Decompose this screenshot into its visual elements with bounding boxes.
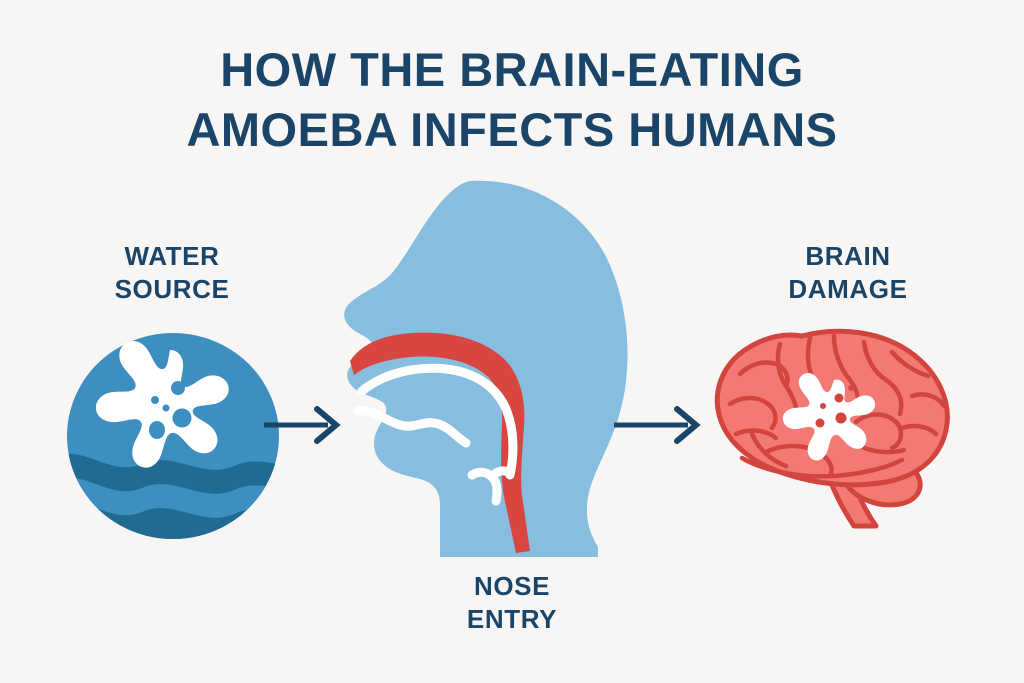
page-title-line-2: AMOEBA INFECTS HUMANS [0, 100, 1024, 160]
page-title-line-1: HOW THE BRAIN-EATING [0, 40, 1024, 100]
page-title: HOW THE BRAIN-EATING AMOEBA INFECTS HUMA… [0, 40, 1024, 160]
water-source-figure [62, 330, 284, 542]
stage-label-nose-entry-line-2: ENTRY [392, 603, 632, 636]
amoeba-vacuole-1 [171, 381, 185, 395]
stage-label-nose-entry-line-1: NOSE [392, 570, 632, 603]
amoeba-vacuole-4 [816, 419, 825, 428]
amoeba-vacuole-5 [848, 385, 854, 391]
arrow-nose-to-brain [612, 402, 708, 448]
stage-label-water-source-line-2: SOURCE [52, 273, 292, 306]
amoeba-vacuole-5 [163, 405, 170, 412]
water-wave-group [52, 454, 297, 560]
amoeba-vacuole-2 [820, 403, 826, 409]
amoeba-in-water-circle-icon [62, 330, 284, 542]
stage-label-brain-damage: BRAIN DAMAGE [728, 240, 968, 306]
brain-with-amoeba-icon [706, 326, 968, 534]
right-arrow-icon [612, 402, 708, 448]
stage-label-nose-entry: NOSE ENTRY [392, 570, 632, 636]
water-wave-band-3 [52, 502, 297, 560]
stage-label-water-source: WATER SOURCE [52, 240, 292, 306]
amoeba-vacuole-1 [835, 394, 844, 403]
amoeba-vacuole-3 [173, 409, 192, 428]
infographic-poster: HOW THE BRAIN-EATING AMOEBA INFECTS HUMA… [0, 0, 1024, 683]
stage-label-brain-damage-line-1: BRAIN [728, 240, 968, 273]
brain-damage-figure [706, 326, 968, 534]
amoeba-vacuole-4 [149, 421, 165, 439]
amoeba-vacuole-3 [836, 413, 847, 424]
stage-label-water-source-line-1: WATER [52, 240, 292, 273]
stage-label-brain-damage-line-2: DAMAGE [728, 273, 968, 306]
nose-entry-figure [320, 175, 670, 565]
amoeba-vacuole-2 [151, 396, 159, 404]
head-profile-nasal-passage-icon [320, 175, 670, 565]
